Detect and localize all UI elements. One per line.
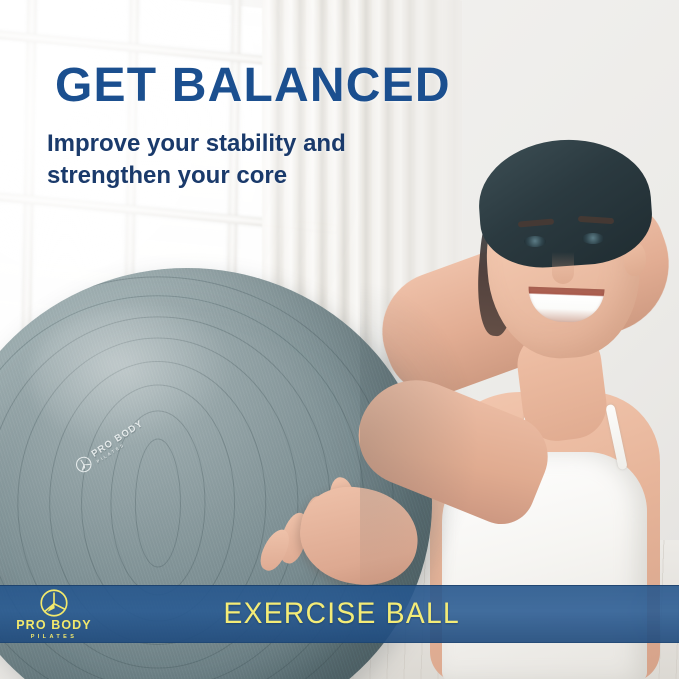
headline: GET BALANCED [55,62,451,110]
brand-logo-tagline: PILATES [31,635,78,641]
product-lifestyle-image: PRO BODY PILATES GET BALANCED Improve yo… [0,0,679,679]
subheadline-line-1: Improve your stability and [47,128,346,160]
brand-logo: PRO BODY PILATES [0,586,108,642]
brand-banner: PRO BODY PILATES EXERCISE BALL [0,585,679,643]
subheadline: Improve your stability and strengthen yo… [47,128,346,191]
brand-logo-name: PRO BODY [16,619,91,632]
pro-body-pilates-emblem-icon [39,588,69,618]
banner-product-title: EXERCISE BALL [125,597,662,631]
subheadline-line-2: strengthen your core [47,160,346,192]
